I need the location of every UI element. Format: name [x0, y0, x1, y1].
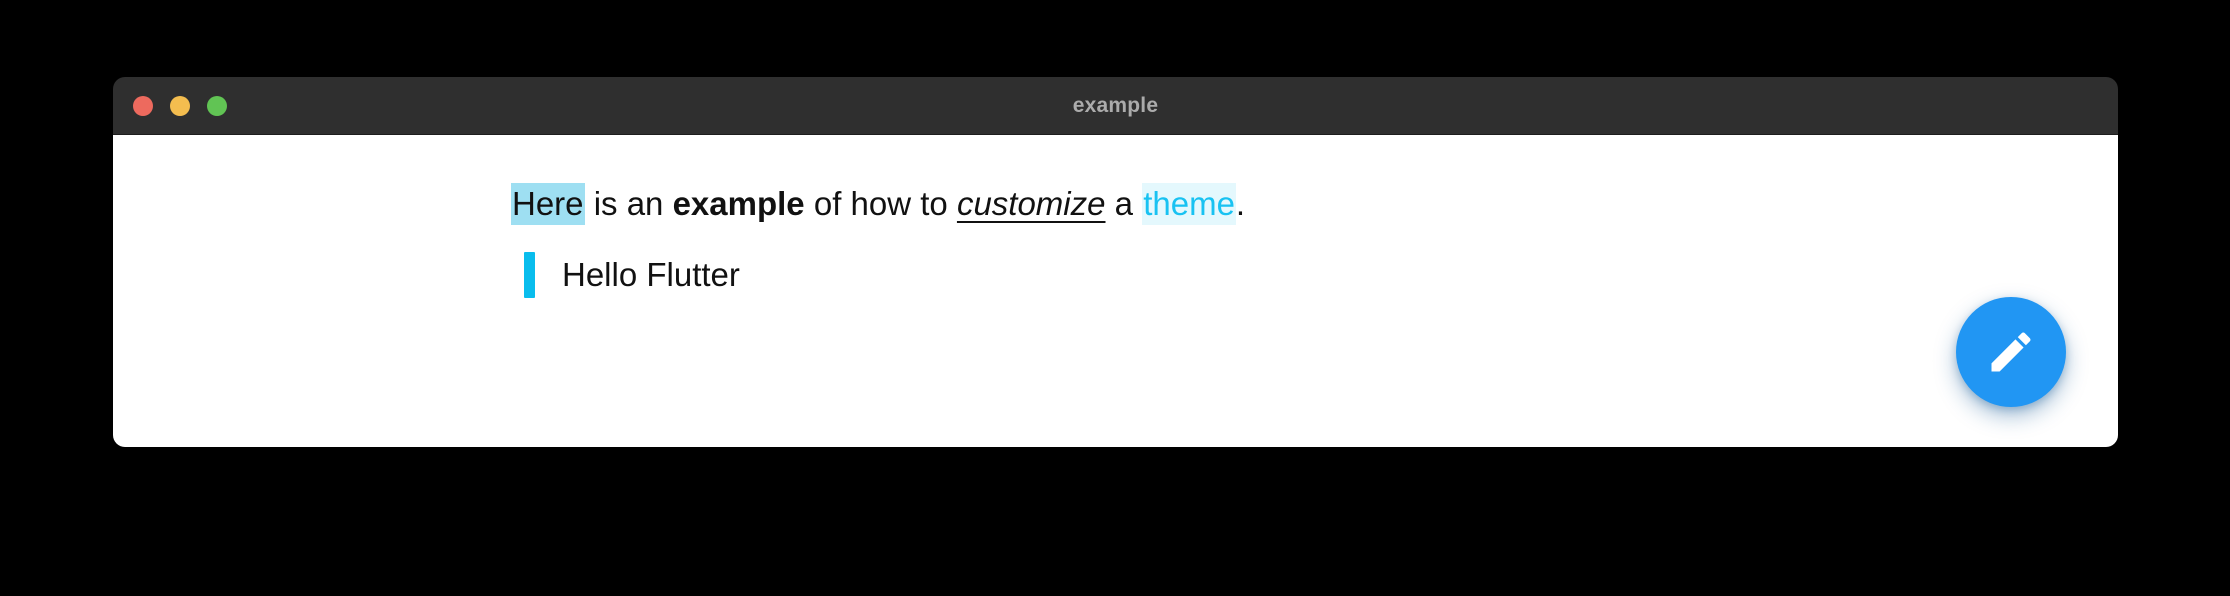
blockquote: Hello Flutter — [511, 252, 2058, 298]
traffic-light-buttons — [133, 77, 227, 134]
maximize-window-button[interactable] — [207, 96, 227, 116]
app-window: example Here is an example of how to cus… — [113, 77, 2118, 447]
desktop-background: example Here is an example of how to cus… — [0, 0, 2230, 596]
text-span-plain-3: a — [1106, 185, 1143, 222]
blockquote-accent-bar — [524, 252, 535, 298]
close-window-button[interactable] — [133, 96, 153, 116]
text-span-highlighted: Here — [511, 183, 585, 225]
text-span-period: . — [1236, 185, 1245, 222]
blockquote-text: Hello Flutter — [562, 252, 740, 298]
edit-fab-button[interactable] — [1956, 297, 2066, 407]
styled-paragraph: Here is an example of how to customize a… — [511, 185, 2058, 224]
window-content-area: Here is an example of how to customize a… — [113, 135, 2118, 447]
text-span-link-theme[interactable]: theme — [1142, 183, 1236, 225]
window-title: example — [113, 94, 2118, 118]
minimize-window-button[interactable] — [170, 96, 190, 116]
pencil-edit-icon — [1985, 326, 2037, 378]
text-span-plain-2: of how to — [805, 185, 957, 222]
text-span-italic-underlined: customize — [957, 185, 1106, 222]
document-body: Here is an example of how to customize a… — [511, 185, 2058, 298]
text-span-bold: example — [673, 185, 805, 222]
text-span-plain-1: is an — [585, 185, 673, 222]
window-titlebar[interactable]: example — [113, 77, 2118, 135]
